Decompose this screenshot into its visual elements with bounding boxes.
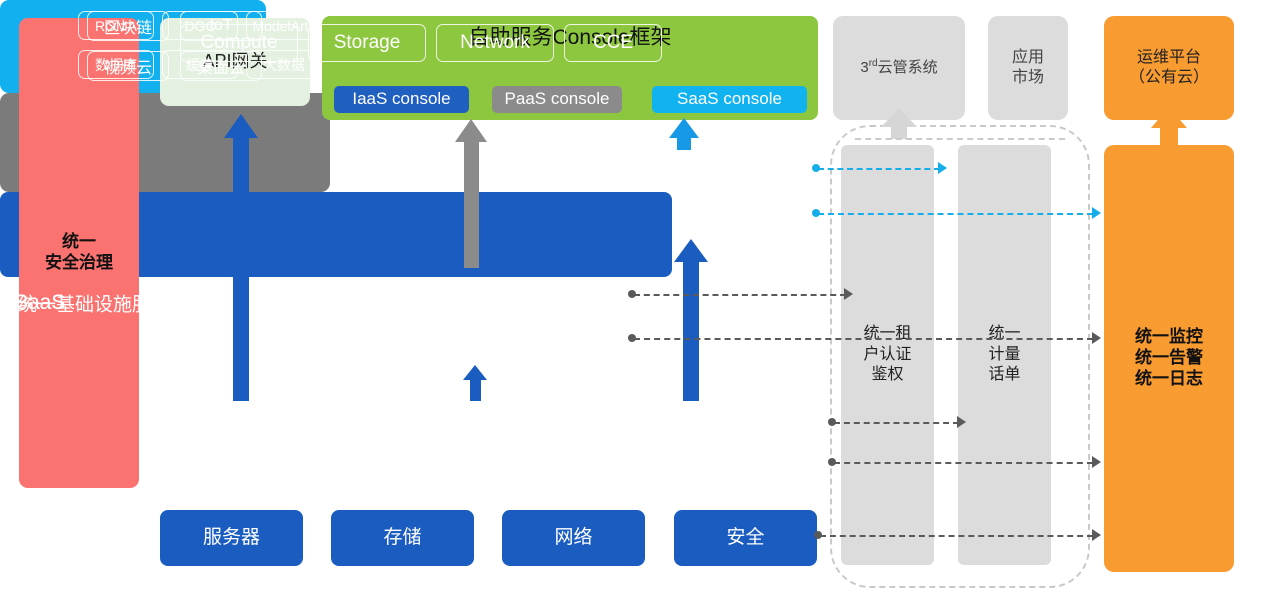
arrow-paas-to-console-head <box>455 119 487 142</box>
architecture-diagram: 统一 安全治理 API网关 自助服务Console框架 IaaS console… <box>0 0 1265 605</box>
dashed-infra-to-metering <box>834 422 959 424</box>
dashed-paas-to-ops-head <box>1092 332 1101 344</box>
shared-service-metering-billing: 统一 计量 话单 <box>958 145 1051 565</box>
infra-service-storage[interactable]: Storage <box>308 24 426 62</box>
paas-service-roma[interactable]: ROMA <box>78 11 154 40</box>
security-governance-line2: 安全治理 <box>45 253 113 274</box>
hardware-network-box[interactable]: 网络 <box>502 510 645 566</box>
metering-line1: 统一 <box>988 324 1020 345</box>
dashed-third-party-feed <box>855 138 1065 140</box>
hardware-security-box[interactable]: 安全 <box>674 510 817 566</box>
dashed-paas-to-auth <box>634 294 846 296</box>
arrow-saas-to-console-shaft <box>677 136 691 150</box>
infra-service-network[interactable]: Network <box>436 24 554 62</box>
arrow-infra-to-api-gateway-head <box>224 114 258 138</box>
shared-service-tenant-auth: 统一租 户认证 鉴权 <box>841 145 934 565</box>
dashed-hardware-to-ops-head <box>1092 529 1101 541</box>
arrow-infra-to-api-gateway-shaft <box>233 135 249 401</box>
dashed-hardware-to-ops <box>820 535 1093 537</box>
arrow-infra-to-paas-head <box>463 365 487 380</box>
paas-console-chip[interactable]: PaaS console <box>492 86 622 113</box>
dashed-paas-to-ops <box>634 338 1093 340</box>
ops-monitoring-line3: 统一日志 <box>1135 369 1203 390</box>
security-governance-line1: 统一 <box>45 232 113 253</box>
ops-monitoring-line1: 统一监控 <box>1135 327 1203 348</box>
ops-platform-box: 运维平台 （公有云） <box>1104 16 1234 120</box>
paas-service-database[interactable]: 数据库 <box>78 50 154 79</box>
infra-service-cce[interactable]: CCE <box>564 24 662 62</box>
metering-line3: 话单 <box>988 365 1020 386</box>
cyan-line-saas-to-ops <box>818 213 1093 215</box>
app-market-line2: 市场 <box>1012 68 1044 88</box>
cyan-line-saas-to-auth <box>818 168 940 170</box>
iaas-console-chip[interactable]: IaaS console <box>334 86 469 113</box>
ops-monitoring-column: 统一监控 统一告警 统一日志 <box>1104 145 1234 572</box>
tenant-auth-line2: 户认证 <box>863 345 911 366</box>
hardware-server-box[interactable]: 服务器 <box>160 510 303 566</box>
dashed-paas-to-auth-head <box>844 288 853 300</box>
third-party-cloud-box: 3rd云管系统 <box>833 16 965 120</box>
ops-platform-line1: 运维平台 <box>1129 48 1209 68</box>
security-governance-panel: 统一 安全治理 <box>19 18 139 488</box>
dashed-infra-to-ops-head <box>1092 456 1101 468</box>
infrastructure-label: 统一基础设施服务 <box>18 289 170 316</box>
arrow-paas-to-console-shaft <box>464 140 479 268</box>
arrow-infra-to-paas-shaft <box>470 377 481 401</box>
arrow-to-third-party-cloud-shaft <box>891 125 907 139</box>
tenant-auth-line3: 鉴权 <box>863 365 911 386</box>
app-market-box: 应用 市场 <box>988 16 1068 120</box>
hardware-storage-box[interactable]: 存储 <box>331 510 474 566</box>
arrow-to-ops-platform-shaft <box>1160 126 1178 148</box>
arrow-to-third-party-cloud-head <box>881 108 917 127</box>
arrow-to-ops-platform-head <box>1151 107 1187 128</box>
tenant-auth-line1: 统一租 <box>863 324 911 345</box>
cyan-line-saas-to-auth-head <box>938 162 947 174</box>
saas-console-chip[interactable]: SaaS console <box>652 86 807 113</box>
dashed-infra-to-ops <box>834 462 1093 464</box>
third-party-cloud-label: 3rd云管系统 <box>860 58 937 77</box>
app-market-line1: 应用 <box>1012 48 1044 68</box>
ops-platform-line2: （公有云） <box>1129 68 1209 88</box>
ops-monitoring-line2: 统一告警 <box>1135 348 1203 369</box>
cyan-line-saas-to-ops-head <box>1092 207 1101 219</box>
metering-line2: 计量 <box>988 345 1020 366</box>
dashed-infra-to-metering-head <box>957 416 966 428</box>
arrow-saas-to-console-head <box>669 118 699 138</box>
infra-service-compute[interactable]: Compute <box>180 24 298 62</box>
arrow-infra-to-saas-shaft <box>683 260 699 401</box>
arrow-infra-to-saas-head <box>674 239 708 262</box>
